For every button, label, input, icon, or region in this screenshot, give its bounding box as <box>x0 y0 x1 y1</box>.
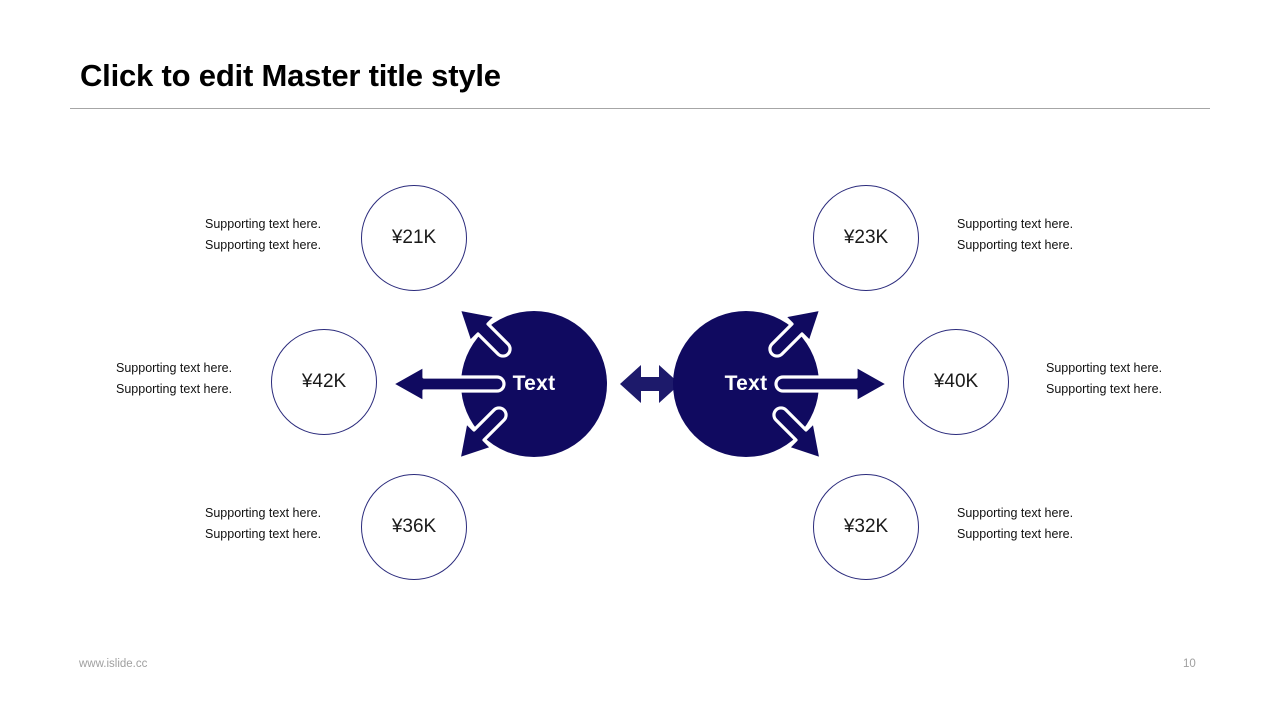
support-line: Supporting text here. <box>205 503 321 524</box>
slide-canvas: Click to edit Master title style <box>0 0 1280 720</box>
value-circle-left-middle[interactable]: ¥42K <box>271 329 377 435</box>
support-line: Supporting text here. <box>116 358 232 379</box>
hub-label-right: Text <box>725 372 768 396</box>
value-label: ¥32K <box>844 516 888 538</box>
hub-label-left: Text <box>513 372 556 396</box>
support-line: Supporting text here. <box>1046 379 1162 400</box>
diagram-stage: Text Text ¥21K ¥42K ¥36K ¥23K ¥40K ¥32K … <box>0 0 1280 720</box>
support-line: Supporting text here. <box>957 214 1073 235</box>
support-line: Supporting text here. <box>957 503 1073 524</box>
footer-url[interactable]: www.islide.cc <box>79 658 147 670</box>
value-label: ¥40K <box>934 371 978 393</box>
support-line: Supporting text here. <box>205 214 321 235</box>
value-label: ¥21K <box>392 227 436 249</box>
support-line: Supporting text here. <box>116 379 232 400</box>
support-line: Supporting text here. <box>957 235 1073 256</box>
support-line: Supporting text here. <box>205 524 321 545</box>
support-text-left-top: Supporting text here. Supporting text he… <box>205 214 321 256</box>
value-label: ¥23K <box>844 227 888 249</box>
value-label: ¥36K <box>392 516 436 538</box>
value-label: ¥42K <box>302 371 346 393</box>
value-circle-left-top[interactable]: ¥21K <box>361 185 467 291</box>
support-text-left-middle: Supporting text here. Supporting text he… <box>116 358 232 400</box>
center-double-arrow <box>620 365 680 403</box>
support-line: Supporting text here. <box>1046 358 1162 379</box>
support-text-right-bottom: Supporting text here. Supporting text he… <box>957 503 1073 545</box>
value-circle-right-top[interactable]: ¥23K <box>813 185 919 291</box>
value-circle-right-middle[interactable]: ¥40K <box>903 329 1009 435</box>
value-circle-left-bottom[interactable]: ¥36K <box>361 474 467 580</box>
support-text-right-middle: Supporting text here. Supporting text he… <box>1046 358 1162 400</box>
support-text-left-bottom: Supporting text here. Supporting text he… <box>205 503 321 545</box>
support-text-right-top: Supporting text here. Supporting text he… <box>957 214 1073 256</box>
value-circle-right-bottom[interactable]: ¥32K <box>813 474 919 580</box>
page-number: 10 <box>1183 658 1196 670</box>
support-line: Supporting text here. <box>957 524 1073 545</box>
support-line: Supporting text here. <box>205 235 321 256</box>
